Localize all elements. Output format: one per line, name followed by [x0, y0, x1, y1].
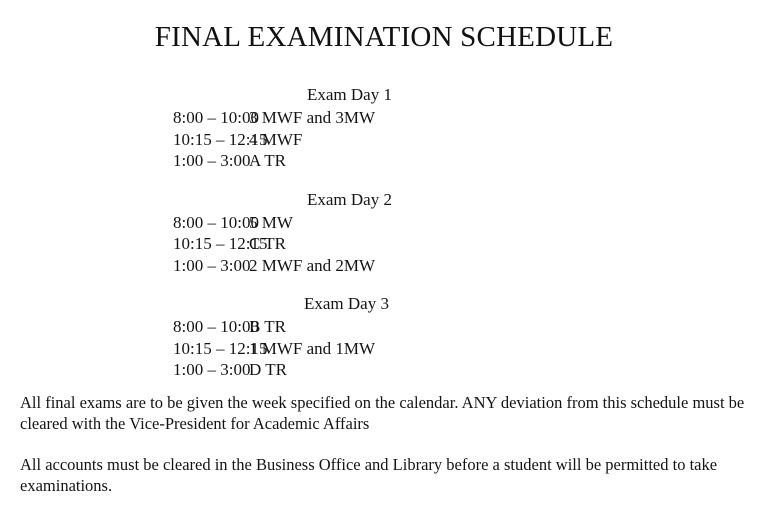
note-paragraph-exam-policy: All final exams are to be given the week… [20, 392, 750, 434]
exam-time: 8:00 – 10:00 [0, 316, 249, 338]
exam-course: D TR [249, 359, 287, 381]
exam-time: 8:00 – 10:00 [0, 107, 249, 129]
exam-row: 8:00 – 10:00 5 MW [0, 212, 768, 234]
footer-notes: All final exams are to be given the week… [20, 392, 750, 496]
exam-day-rows: 8:00 – 10:00 3 MWF and 3MW 10:15 – 12:15… [0, 107, 768, 172]
note-paragraph-account-policy: All accounts must be cleared in the Busi… [20, 454, 750, 496]
exam-day-block: Exam Day 1 8:00 – 10:00 3 MWF and 3MW 10… [0, 84, 768, 172]
exam-course: 5 MW [249, 212, 293, 234]
exam-time: 10:15 – 12:15 [0, 129, 249, 151]
document-page: FINAL EXAMINATION SCHEDULE Exam Day 1 8:… [0, 0, 768, 508]
exam-course: B TR [249, 316, 286, 338]
exam-day-rows: 8:00 – 10:00 5 MW 10:15 – 12:15 C TR 1:0… [0, 212, 768, 277]
exam-row: 8:00 – 10:00 B TR [0, 316, 768, 338]
exam-course: 3 MWF and 3MW [249, 107, 375, 129]
exam-course: 1 MWF and 1MW [249, 338, 375, 360]
exam-time: 10:15 – 12:15 [0, 338, 249, 360]
exam-course: 4 MWF [249, 129, 302, 151]
exam-day-heading: Exam Day 3 [0, 293, 768, 315]
exam-time: 1:00 – 3:00 [0, 359, 249, 381]
exam-row: 8:00 – 10:00 3 MWF and 3MW [0, 107, 768, 129]
exam-row: 1:00 – 3:00 A TR [0, 150, 768, 172]
exam-time: 8:00 – 10:00 [0, 212, 249, 234]
exam-row: 1:00 – 3:00 D TR [0, 359, 768, 381]
exam-row: 10:15 – 12:15 1 MWF and 1MW [0, 338, 768, 360]
page-title: FINAL EXAMINATION SCHEDULE [0, 20, 768, 54]
exam-course: A TR [249, 150, 286, 172]
exam-row: 1:00 – 3:00 2 MWF and 2MW [0, 255, 768, 277]
exam-day-rows: 8:00 – 10:00 B TR 10:15 – 12:15 1 MWF an… [0, 316, 768, 381]
exam-day-block: Exam Day 3 8:00 – 10:00 B TR 10:15 – 12:… [0, 293, 768, 381]
exam-row: 10:15 – 12:15 C TR [0, 233, 768, 255]
exam-day-heading: Exam Day 1 [0, 84, 768, 106]
exam-course: 2 MWF and 2MW [249, 255, 375, 277]
exam-schedule: Exam Day 1 8:00 – 10:00 3 MWF and 3MW 10… [0, 84, 768, 398]
exam-time: 1:00 – 3:00 [0, 150, 249, 172]
exam-course: C TR [249, 233, 286, 255]
exam-time: 10:15 – 12:15 [0, 233, 249, 255]
exam-time: 1:00 – 3:00 [0, 255, 249, 277]
exam-day-block: Exam Day 2 8:00 – 10:00 5 MW 10:15 – 12:… [0, 189, 768, 277]
exam-day-heading: Exam Day 2 [0, 189, 768, 211]
exam-row: 10:15 – 12:15 4 MWF [0, 129, 768, 151]
